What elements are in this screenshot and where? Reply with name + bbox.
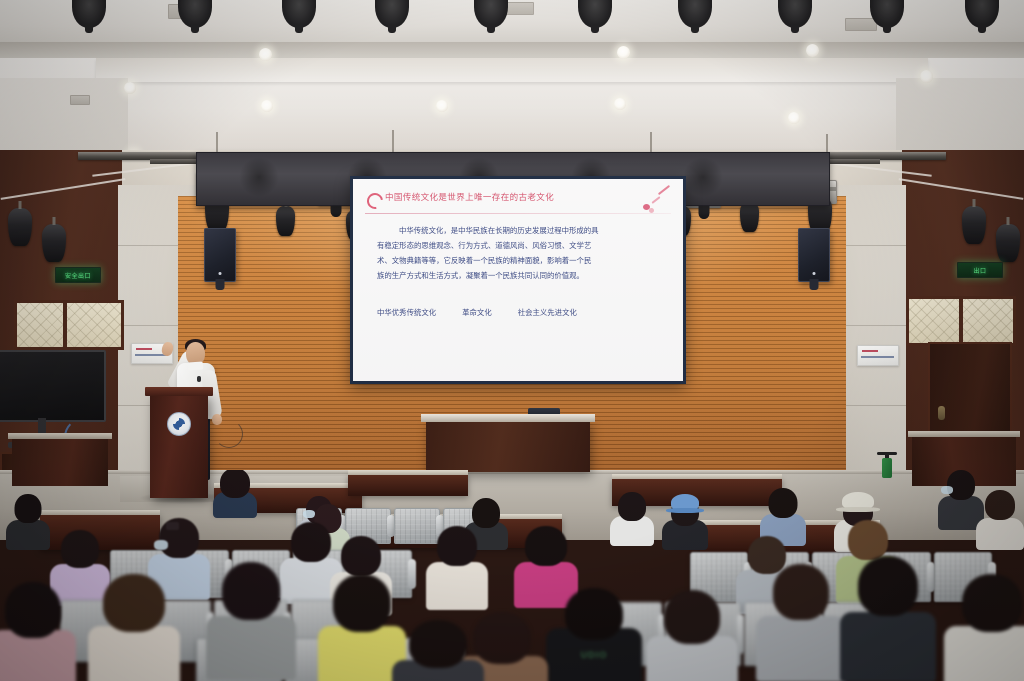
person-head — [103, 574, 165, 632]
university-crest-icon — [167, 412, 191, 436]
person-head — [472, 498, 500, 528]
presenter-raised-hand — [160, 341, 174, 357]
ceiling-recess-left — [0, 78, 128, 150]
slide-divider — [365, 213, 671, 214]
audience-area: UDIO — [0, 470, 1024, 681]
transom-window-left — [14, 300, 124, 350]
person-body — [88, 626, 180, 681]
person-head — [773, 564, 829, 620]
stage-light-par — [8, 208, 32, 246]
person-head — [222, 562, 280, 620]
person-head — [848, 520, 888, 560]
person-body — [976, 518, 1024, 550]
person-head — [858, 556, 918, 616]
audience-person — [212, 470, 258, 514]
audience-person — [610, 492, 654, 544]
hair-clip-icon — [166, 522, 179, 530]
projection-screen[interactable]: 中国传统文化是世界上唯一存在的古老文化 中华传统文化，是中华民族在长期的历史发展… — [350, 176, 686, 384]
person-body — [426, 562, 488, 610]
flat-screen-monitor[interactable] — [0, 350, 106, 422]
audience-person — [840, 556, 936, 681]
person-head — [769, 488, 798, 518]
bucket-hat-icon — [842, 492, 874, 510]
face-mask-icon — [154, 540, 168, 550]
person-head — [159, 518, 199, 558]
person-head — [333, 574, 391, 632]
exit-sign-label: 安全出口 — [65, 271, 91, 280]
wall-sign-right — [857, 345, 899, 366]
exit-sign-right: 出口 — [957, 262, 1003, 278]
person-body — [206, 616, 296, 680]
ceiling-slab — [96, 58, 928, 82]
stage-light-par — [276, 206, 295, 236]
audience-person — [646, 590, 738, 681]
wall-speaker-left — [204, 228, 236, 282]
presenter-collar — [188, 361, 204, 370]
downlight-icon — [920, 70, 933, 83]
slide-body-line: 有稳定形态的思维观念、行为方式、道德风尚、风俗习惯、文学艺 — [377, 238, 665, 253]
desk-row — [348, 474, 468, 496]
audience-person — [6, 494, 50, 548]
slide-body: 中华传统文化，是中华民族在长期的历史发展过程中形成的具 有稳定形态的思维观念、行… — [377, 223, 665, 283]
stage-light-par — [962, 206, 986, 244]
audience-person-udio-shirt: UDIO — [546, 588, 642, 681]
person-head — [962, 574, 1022, 632]
person-head — [291, 522, 331, 562]
downlight-icon — [124, 82, 136, 94]
person-head — [664, 590, 720, 644]
audience-person — [206, 562, 296, 678]
ac-vent-icon — [845, 18, 877, 31]
audience-person — [756, 564, 846, 681]
slide-footer-item: 社会主义先进文化 — [518, 307, 577, 318]
slide-surface: 中国传统文化是世界上唯一存在的古老文化 中华传统文化，是中华民族在长期的历史发展… — [353, 179, 683, 381]
audience-person — [0, 582, 76, 681]
slide-title-row: 中国传统文化是世界上唯一存在的古老文化 — [367, 191, 669, 209]
stage-table-top — [421, 414, 595, 422]
person-body — [756, 616, 846, 681]
exit-sign-label: 出口 — [973, 266, 986, 275]
ac-vent-icon — [70, 95, 90, 105]
person-head — [985, 490, 1015, 520]
stage-light-par — [42, 224, 66, 262]
slide-body-line: 中华传统文化，是中华民族在长期的历史发展过程中形成的具 — [377, 223, 665, 238]
speaker-led-icon — [219, 272, 222, 275]
person-head — [409, 620, 467, 668]
audience-person — [976, 490, 1024, 548]
exit-sign-left: 安全出口 — [55, 267, 101, 283]
person-body — [944, 626, 1024, 681]
downlight-icon — [261, 100, 273, 112]
transom-window-right — [906, 296, 1016, 346]
downlight-icon — [614, 98, 626, 110]
ceiling-recess-right — [896, 78, 1024, 150]
slide-title: 中国传统文化是世界上唯一存在的古老文化 — [385, 191, 554, 203]
baseball-cap-icon — [671, 494, 699, 511]
audience-person-with-cap — [662, 494, 708, 548]
audience-person — [88, 574, 180, 681]
downlight-icon — [806, 44, 819, 57]
person-head — [5, 582, 61, 638]
downlight-icon — [436, 100, 448, 112]
stage-table — [426, 420, 590, 472]
shirt-text: UDIO — [581, 650, 608, 660]
stage-light-par — [996, 224, 1020, 262]
podium-top — [145, 387, 213, 396]
clicker-cable — [215, 420, 243, 448]
slide-footer: 中华优秀传统文化 革命文化 社会主义先进文化 — [377, 307, 665, 318]
slide-footer-item: 中华优秀传统文化 — [377, 307, 436, 318]
person-head — [61, 530, 99, 568]
audience-person — [426, 526, 488, 606]
person-body — [840, 612, 936, 681]
person-head — [437, 526, 477, 566]
person-head — [618, 492, 646, 521]
downlight-icon — [617, 46, 630, 59]
slide-body-line: 术、文物典籍等等，它反映着一个民族的精神面貌，影响着一个民 — [377, 253, 665, 268]
face-mask-icon — [941, 486, 953, 494]
slide-footer-item: 革命文化 — [462, 307, 492, 318]
person-head — [947, 470, 975, 500]
speaker-led-icon — [813, 272, 816, 275]
slide-swirl-icon — [364, 190, 386, 212]
wall-speaker-right — [798, 228, 830, 282]
audience-person — [392, 620, 484, 681]
person-head — [565, 588, 623, 640]
downlight-icon — [259, 48, 272, 61]
lecture-hall-photo: 中国传统文化是世界上唯一存在的古老文化 中华传统文化，是中华民族在长期的历史发展… — [0, 0, 1024, 681]
person-head — [525, 526, 567, 566]
slide-body-line: 族的生产方式和生活方式，凝聚着一个民族共同认同的价值观。 — [377, 268, 665, 283]
door-handle-icon[interactable] — [938, 406, 945, 420]
person-body — [6, 520, 50, 550]
person-head — [220, 470, 250, 498]
stage-light-par — [740, 202, 759, 232]
audience-person — [944, 574, 1024, 681]
person-head — [341, 536, 381, 576]
ceiling-beam — [0, 42, 1024, 58]
downlight-icon — [788, 112, 800, 124]
person-head — [15, 494, 42, 523]
